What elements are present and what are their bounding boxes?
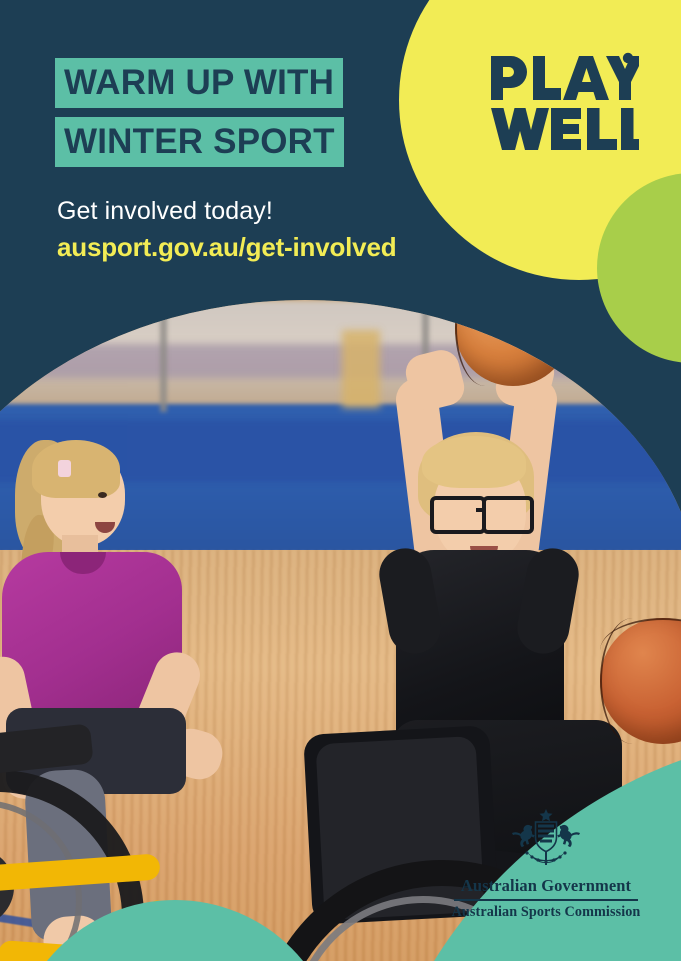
gym-wall-stripe (0, 344, 681, 378)
play-well-logo: PLAY WELL (489, 52, 639, 154)
gym-background-panel (342, 330, 380, 408)
gov-line-australian-government: Australian Government (448, 876, 644, 896)
basketball-in-air (600, 618, 681, 744)
cta-url-link[interactable]: ausport.gov.au/get-involved (57, 231, 396, 264)
boy-glasses-bridge (476, 508, 484, 512)
girl-eye (98, 492, 107, 498)
headline-line-1: WARM UP WITH (55, 58, 343, 108)
call-to-action: Get involved today! ausport.gov.au/get-i… (57, 196, 396, 264)
gov-line-sports-commission: Australian Sports Commission (448, 904, 644, 921)
australian-government-logo: Australian Government Australian Sports … (448, 808, 644, 921)
play-well-logo-svg (489, 52, 639, 154)
boy-fringe (422, 436, 526, 488)
girl-hair (32, 440, 120, 498)
person-head-icon (623, 53, 633, 63)
australian-coat-of-arms-icon (509, 808, 583, 870)
gov-divider-rule (454, 899, 638, 901)
headline: WARM UP WITH WINTER SPORT (55, 58, 475, 167)
cta-subtitle: Get involved today! (57, 196, 396, 227)
headline-line-2: WINTER SPORT (55, 117, 344, 167)
girl-hair-tie (58, 460, 71, 477)
poster-canvas: PLAY WELL WARM UP WITH WINTER SPORT Get … (0, 0, 681, 961)
boy-glasses-right-lens (482, 496, 534, 534)
gym-pole-left (160, 300, 167, 412)
boy-glasses-left-lens (430, 496, 486, 534)
